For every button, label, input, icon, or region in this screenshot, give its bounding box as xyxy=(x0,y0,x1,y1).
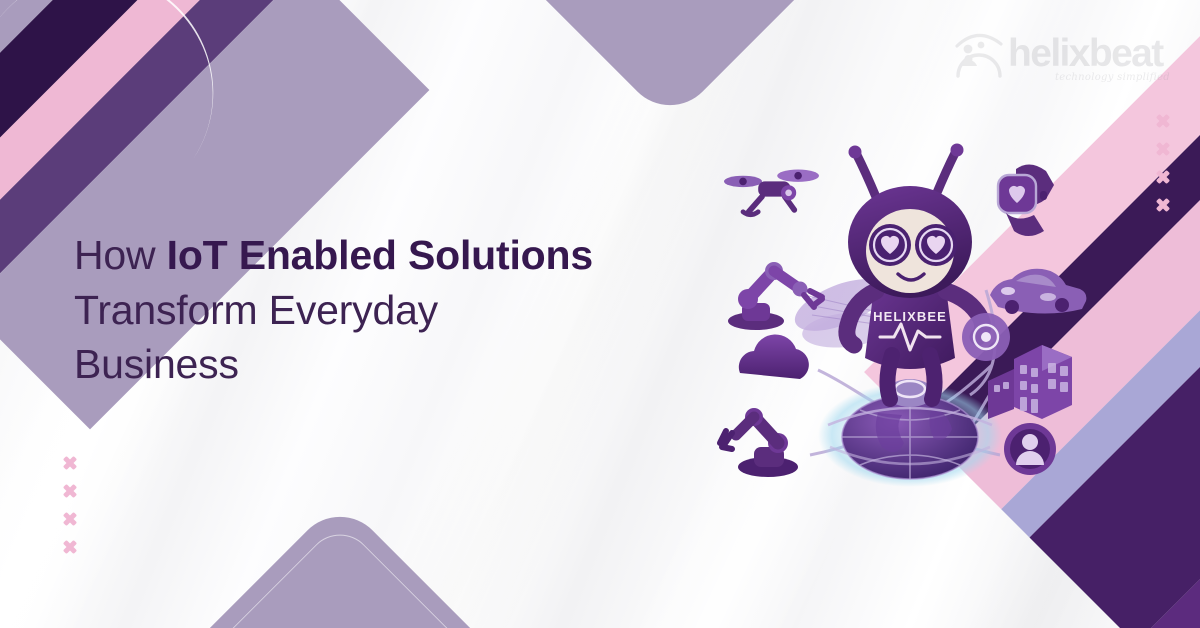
x-mark-icon xyxy=(1155,113,1170,128)
title-part-bold: IoT Enabled Solutions xyxy=(167,232,593,278)
title-part-1: How xyxy=(74,232,167,278)
banner-root: How IoT Enabled Solutions Transform Ever… xyxy=(0,0,1200,628)
x-mark-icon xyxy=(62,539,77,554)
x-mark-icon xyxy=(1155,141,1170,156)
drone-icon xyxy=(724,170,819,215)
x-marks-left xyxy=(62,455,77,554)
robot-arm-2-icon xyxy=(720,408,798,477)
iot-scene-svg: HELIXBEE xyxy=(700,125,1100,505)
logo-tagline: technology simplified xyxy=(1055,72,1170,83)
logo-wordmark: helixbeat xyxy=(1008,34,1163,73)
title-part-3: Transform Everyday Business xyxy=(74,287,438,388)
user-avatar-icon xyxy=(1004,423,1056,475)
decor-plate-top xyxy=(458,0,882,124)
mascot-chest-label: HELIXBEE xyxy=(873,309,947,324)
x-marks-right xyxy=(1155,113,1170,212)
x-mark-icon xyxy=(1155,169,1170,184)
mascot-head xyxy=(848,186,972,298)
x-mark-icon xyxy=(62,511,77,526)
x-mark-icon xyxy=(62,483,77,498)
x-mark-icon xyxy=(62,455,77,470)
building-icon xyxy=(988,345,1072,419)
x-mark-icon xyxy=(1155,197,1170,212)
brand-logo[interactable]: helixbeat technology simplified xyxy=(952,26,1172,90)
cloud-icon xyxy=(739,334,809,379)
hero-illustration: HELIXBEE xyxy=(700,125,1100,505)
helixbeat-people-mark-icon xyxy=(954,32,1004,80)
decor-plate-bottom xyxy=(128,498,552,628)
smartwatch-icon xyxy=(998,164,1054,236)
page-title: How IoT Enabled Solutions Transform Ever… xyxy=(74,228,594,392)
car-icon xyxy=(990,269,1086,314)
